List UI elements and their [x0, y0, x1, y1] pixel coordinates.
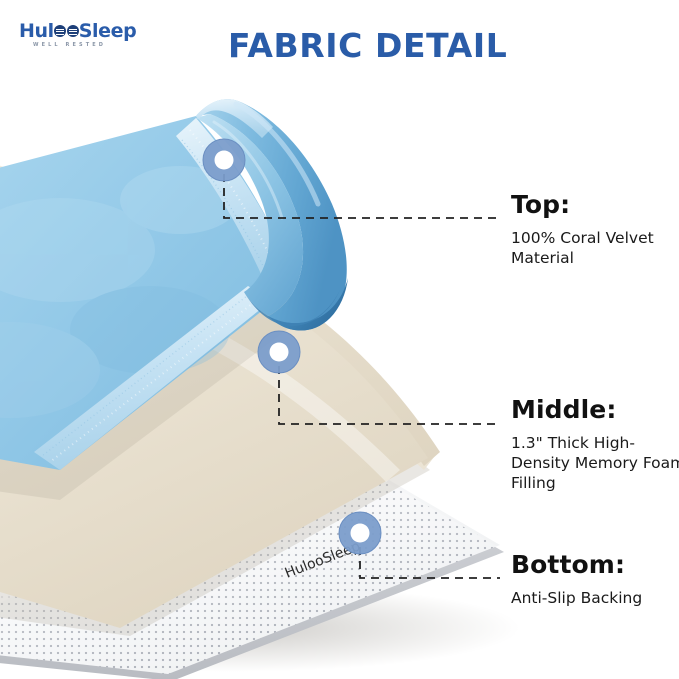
callout-middle-description: 1.3" Thick High-Density Memory Foam Fill… [511, 433, 679, 494]
callout-bottom: Bottom: Anti-Slip Backing [511, 551, 679, 608]
callout-middle-heading: Middle: [511, 396, 679, 424]
callout-middle: Middle: 1.3" Thick High-Density Memory F… [511, 396, 679, 494]
callout-bottom-heading: Bottom: [511, 551, 679, 579]
callout-bottom-description: Anti-Slip Backing [511, 588, 679, 608]
infographic-page: HulSleep WELL RESTED FABRIC DETAIL [0, 0, 679, 679]
callout-top-heading: Top: [511, 191, 679, 219]
callout-marker-top[interactable] [203, 139, 245, 181]
callout-marker-middle[interactable] [258, 331, 300, 373]
callout-marker-bottom[interactable] [339, 512, 381, 554]
callout-top-description: 100% Coral Velvet Material [511, 228, 679, 269]
callout-top: Top: 100% Coral Velvet Material [511, 191, 679, 268]
